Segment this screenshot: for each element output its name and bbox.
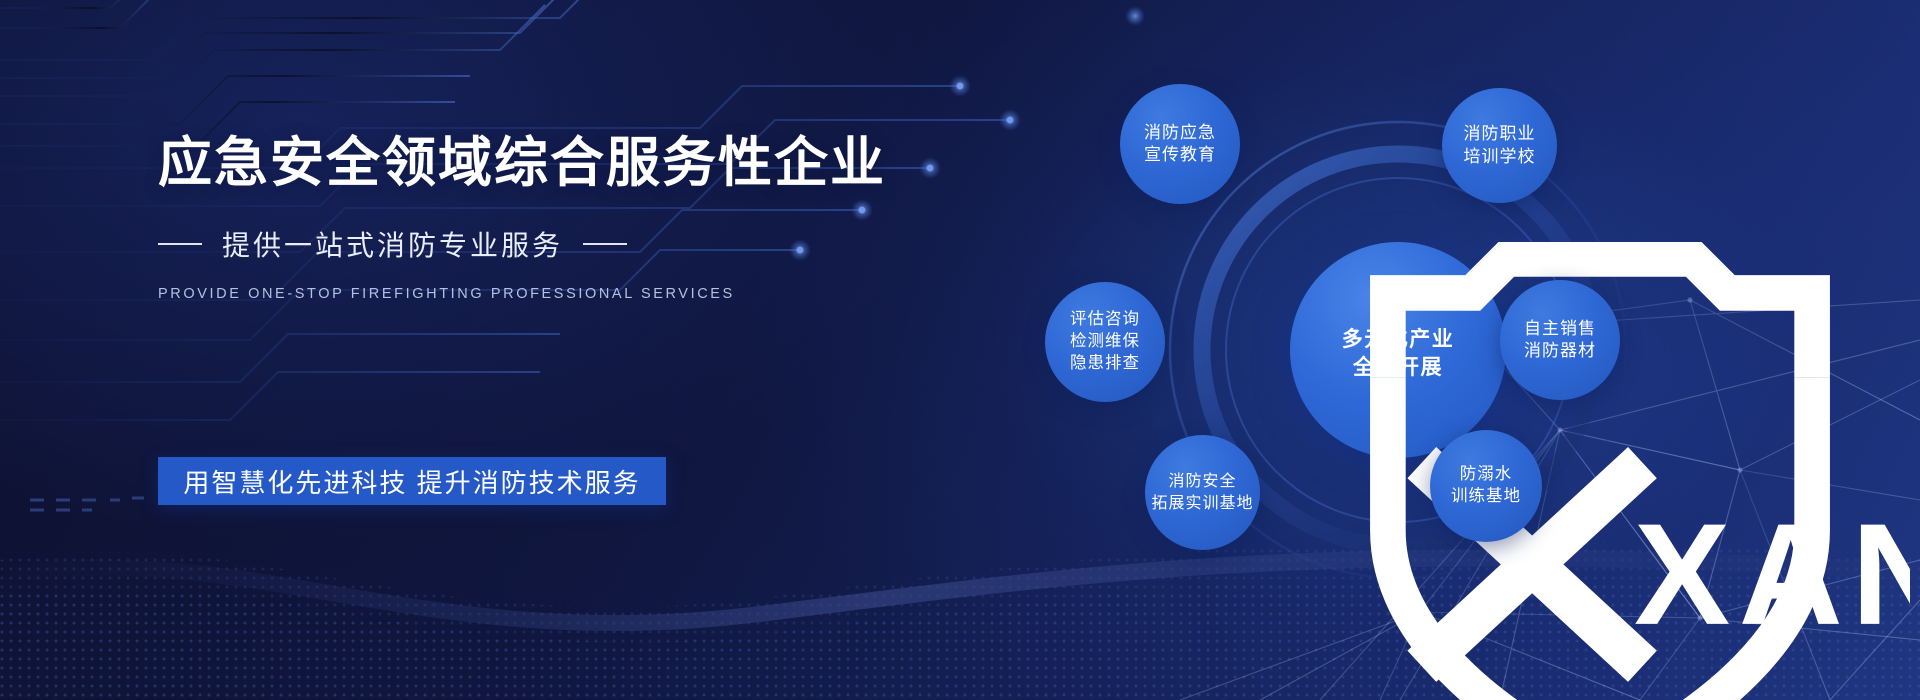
cta-banner[interactable]: 用智慧化先进科技 提升消防技术服务 [158, 457, 666, 505]
diagram-node-fire-emergency-education[interactable]: 消防应急 宣传教育 [1120, 84, 1240, 204]
node-line1: 评估咨询 [1070, 309, 1140, 331]
node-line2: 培训学校 [1464, 146, 1536, 168]
node-line1: 消防安全 [1168, 471, 1236, 492]
node-line1: 消防应急 [1144, 122, 1216, 144]
diagram-center-node[interactable]: XAN 多元化产业 全面开展 [1290, 242, 1506, 458]
diagram-node-vocational-training-school[interactable]: 消防职业 培训学校 [1442, 88, 1557, 203]
node-line1: 防溺水 [1460, 464, 1513, 486]
divider-left [158, 243, 202, 245]
page-title: 应急安全领域综合服务性企业 [158, 132, 898, 194]
diagram-node-anti-drowning-base[interactable]: 防溺水 训练基地 [1430, 430, 1542, 542]
node-line2: 训练基地 [1451, 486, 1521, 508]
node-line2: 检测维保 [1070, 331, 1140, 353]
diagram-node-assessment-inspection[interactable]: 评估咨询 检测维保 隐患排查 [1045, 282, 1165, 402]
node-line2: 拓展实训基地 [1151, 493, 1253, 514]
hero-copy: 应急安全领域综合服务性企业 提供一站式消防专业服务 PROVIDE ONE-ST… [158, 132, 898, 302]
diagram-node-equipment-sales[interactable]: 自主销售 消防器材 [1500, 280, 1620, 400]
cta-label: 用智慧化先进科技 提升消防技术服务 [183, 463, 640, 500]
node-line2: 宣传教育 [1144, 144, 1216, 166]
node-line2: 消防器材 [1524, 340, 1596, 362]
english-tagline: PROVIDE ONE-STOP FIREFIGHTING PROFESSION… [158, 286, 898, 302]
node-line1: 消防职业 [1464, 123, 1536, 145]
hero-banner: 应急安全领域综合服务性企业 提供一站式消防专业服务 PROVIDE ONE-ST… [0, 0, 1920, 700]
services-circle-diagram: XAN 多元化产业 全面开展 消防应急 宣传教育 消防职业 培训学校 评估咨询 … [1100, 70, 1720, 630]
subtitle-row: 提供一站式消防专业服务 [158, 224, 898, 264]
svg-text:XAN: XAN [1634, 493, 1910, 655]
divider-right [583, 243, 627, 245]
diagram-node-safety-training-base[interactable]: 消防安全 拓展实训基地 [1145, 435, 1260, 550]
node-line1: 自主销售 [1524, 318, 1596, 340]
page-subtitle: 提供一站式消防专业服务 [222, 224, 563, 264]
node-line3: 隐患排查 [1070, 353, 1140, 375]
